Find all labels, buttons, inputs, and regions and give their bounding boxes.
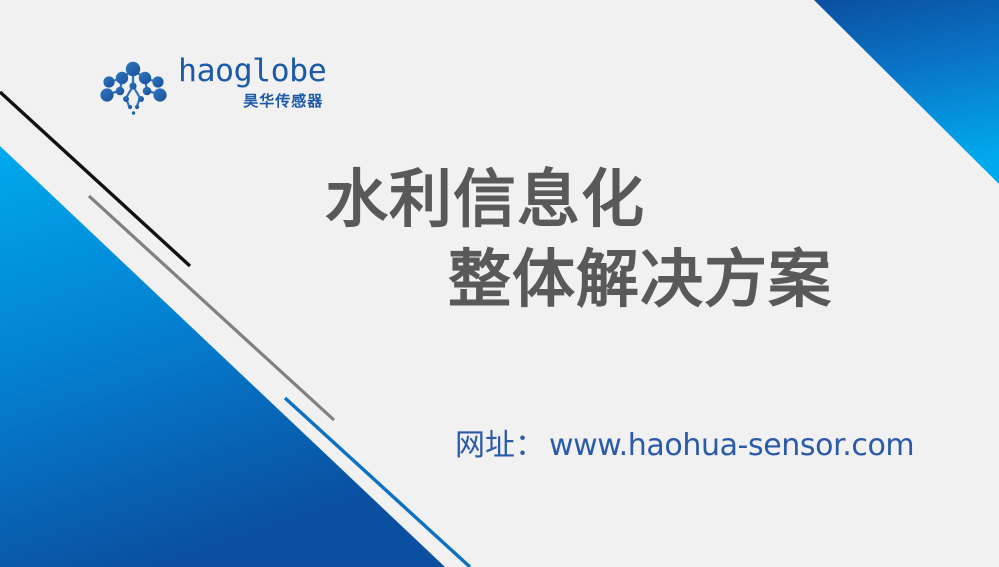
blue-diagonal-line xyxy=(285,398,470,567)
haoglobe-network-logo-icon xyxy=(96,58,170,116)
top-right-blue-triangle xyxy=(814,0,999,184)
company-logo: haoglobe 昊华传感器 xyxy=(96,56,326,120)
title-line-2: 整体解决方案 xyxy=(0,246,999,314)
logo-text-block: haoglobe 昊华传感器 xyxy=(178,56,323,111)
slide-title: 水利信息化 整体解决方案 xyxy=(0,166,999,314)
logo-wordmark: haoglobe xyxy=(178,56,326,87)
website-line: 网址： www.haohua-sensor.com xyxy=(455,420,914,464)
website-url[interactable]: www.haohua-sensor.com xyxy=(549,428,914,463)
website-label: 网址： xyxy=(455,420,545,464)
title-line-1: 水利信息化 xyxy=(0,166,999,234)
logo-subtext-chinese: 昊华传感器 xyxy=(243,90,323,111)
presentation-slide: haoglobe 昊华传感器 水利信息化 整体解决方案 网址： www.haoh… xyxy=(0,0,999,567)
